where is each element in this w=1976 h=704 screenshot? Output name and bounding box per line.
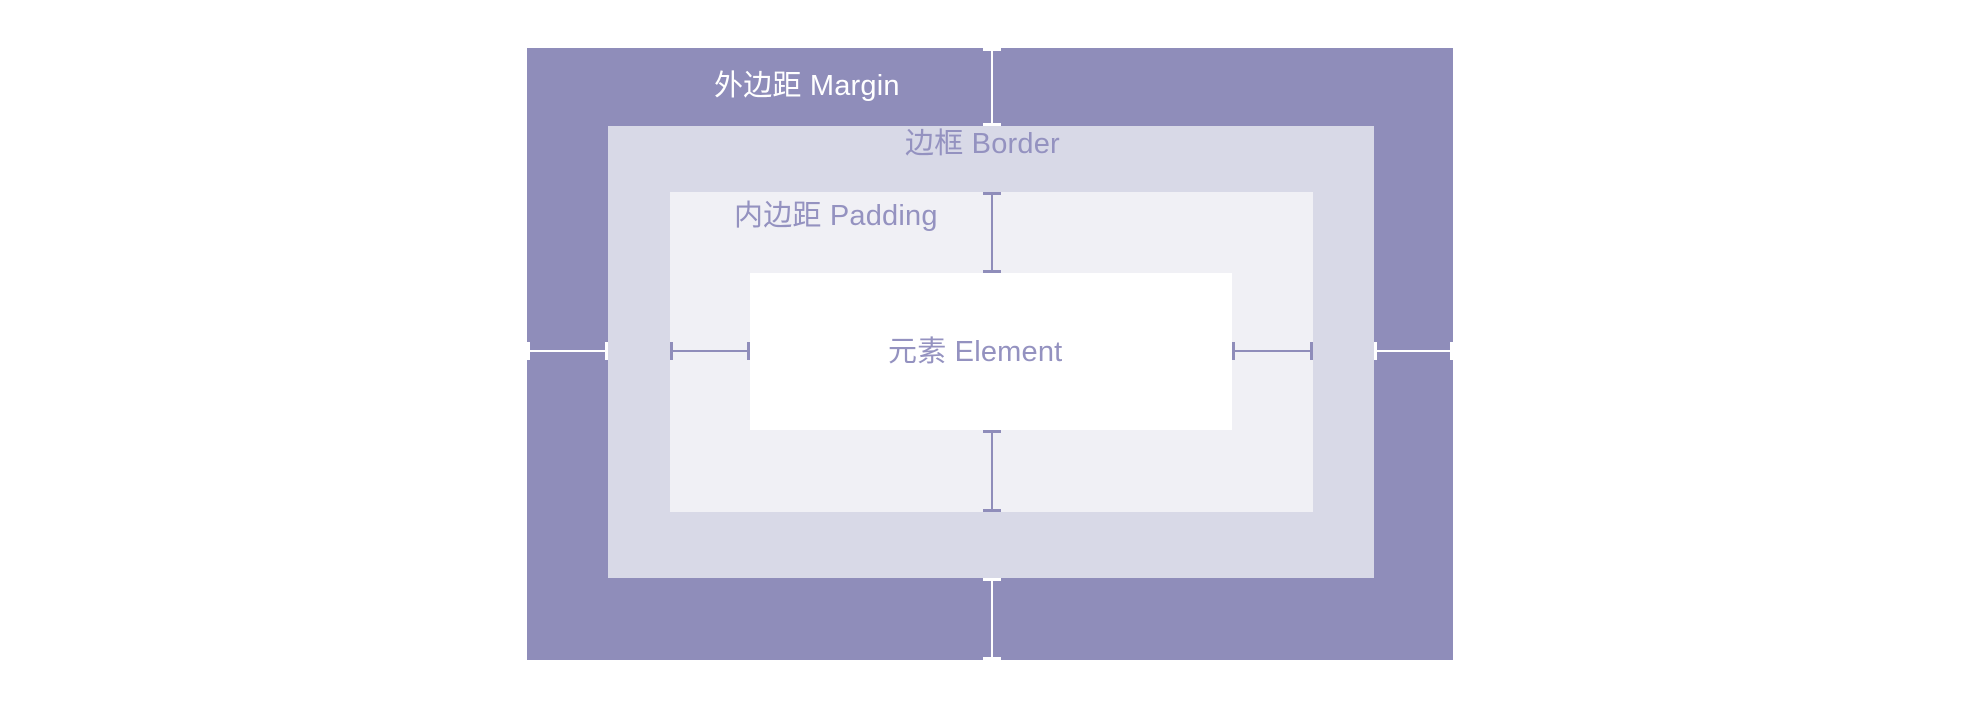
padding-label: 内边距 Padding bbox=[734, 202, 938, 231]
padding-right-dimension-line bbox=[1232, 341, 1313, 361]
dimension-cap-end bbox=[983, 270, 1001, 273]
padding-bottom-dimension-line bbox=[982, 430, 1002, 512]
border-label: 边框 Border bbox=[905, 130, 1060, 159]
dimension-stem bbox=[991, 430, 993, 512]
padding-left-dimension-line bbox=[670, 341, 750, 361]
dimension-stem bbox=[991, 578, 993, 660]
box-model-diagram: 外边距 Margin 边框 Border 内边距 Padding 元素 Elem… bbox=[0, 0, 1976, 704]
dimension-cap-end bbox=[605, 342, 608, 360]
dimension-stem bbox=[670, 350, 750, 352]
dimension-cap-end bbox=[983, 509, 1001, 512]
dimension-stem bbox=[527, 350, 608, 352]
dimension-cap-end bbox=[1450, 342, 1453, 360]
margin-left-dimension-line bbox=[527, 341, 608, 361]
padding-top-dimension-line bbox=[982, 192, 1002, 273]
dimension-cap-end bbox=[983, 657, 1001, 660]
dimension-stem bbox=[1232, 350, 1313, 352]
dimension-stem bbox=[1374, 350, 1453, 352]
dimension-cap-end bbox=[1310, 342, 1313, 360]
dimension-stem bbox=[991, 48, 993, 126]
margin-top-dimension-line bbox=[982, 48, 1002, 126]
dimension-cap-end bbox=[747, 342, 750, 360]
margin-bottom-dimension-line bbox=[982, 578, 1002, 660]
dimension-stem bbox=[991, 192, 993, 273]
dimension-cap-end bbox=[983, 123, 1001, 126]
margin-right-dimension-line bbox=[1374, 341, 1453, 361]
element-label: 元素 Element bbox=[888, 338, 1062, 367]
margin-label: 外边距 Margin bbox=[714, 72, 900, 101]
